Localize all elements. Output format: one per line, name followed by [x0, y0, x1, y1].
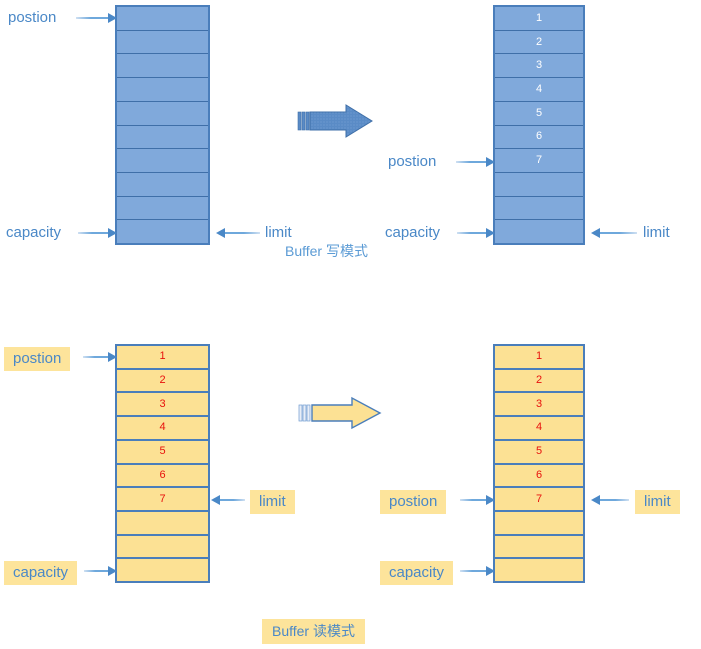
- buffer-cell: [117, 536, 208, 560]
- connector-capacity-w2: [457, 232, 487, 234]
- buffer-cell: 2: [495, 31, 583, 55]
- buffer-cell: 5: [495, 102, 583, 126]
- label-postion-w2: postion: [388, 154, 436, 169]
- buffer-cell: [117, 126, 208, 150]
- caption-write-mode: Buffer 写模式: [285, 244, 368, 258]
- connector-limit-w2: [599, 232, 637, 234]
- buffer-write-empty: [115, 5, 210, 245]
- connector-capacity-r1: [84, 570, 109, 572]
- buffer-cell: 3: [117, 393, 208, 417]
- label-capacity-r2: capacity: [380, 561, 453, 585]
- label-capacity-w1: capacity: [6, 225, 61, 240]
- buffer-cell: [495, 220, 583, 243]
- buffer-cell: [117, 220, 208, 243]
- buffer-cell: 7: [117, 488, 208, 512]
- label-capacity-w2: capacity: [385, 225, 440, 240]
- connector-capacity-w1: [78, 232, 109, 234]
- buffer-cell: [117, 102, 208, 126]
- label-postion-r1: postion: [4, 347, 70, 371]
- buffer-cell: [117, 197, 208, 221]
- buffer-cell: 6: [495, 465, 583, 489]
- label-limit-r1: limit: [250, 490, 295, 514]
- label-postion-r2: postion: [380, 490, 446, 514]
- buffer-cell: [117, 559, 208, 581]
- connector-postion-r1: [83, 356, 109, 358]
- buffer-cell: [495, 512, 583, 536]
- buffer-read-done: 1234567: [493, 344, 585, 583]
- buffer-cell: [117, 78, 208, 102]
- buffer-cell: 4: [495, 78, 583, 102]
- buffer-cell: [495, 173, 583, 197]
- connector-postion-r2: [460, 499, 487, 501]
- caption-read-mode: Buffer 读模式: [262, 619, 365, 644]
- buffer-cell: 5: [495, 441, 583, 465]
- buffer-cell: 5: [117, 441, 208, 465]
- buffer-cell: [495, 559, 583, 581]
- buffer-cell: [117, 149, 208, 173]
- buffer-cell: 1: [495, 7, 583, 31]
- buffer-read-start: 1234567: [115, 344, 210, 583]
- buffer-cell: 1: [117, 346, 208, 370]
- label-postion-w1: postion: [8, 10, 56, 25]
- buffer-cell: 4: [495, 417, 583, 441]
- buffer-cell: 3: [495, 393, 583, 417]
- connector-postion-w1: [76, 17, 109, 19]
- buffer-cell: [117, 31, 208, 55]
- buffer-write-filled: 1234567: [493, 5, 585, 245]
- connector-limit-w1: [224, 232, 260, 234]
- buffer-cell: [495, 197, 583, 221]
- buffer-cell: 6: [117, 465, 208, 489]
- buffer-cell: 7: [495, 488, 583, 512]
- buffer-cell: [495, 536, 583, 560]
- buffer-cell: 2: [117, 370, 208, 394]
- connector-postion-w2: [456, 161, 487, 163]
- buffer-cell: 2: [495, 370, 583, 394]
- connector-capacity-r2: [460, 570, 487, 572]
- buffer-cell: [117, 54, 208, 78]
- buffer-cell: 3: [495, 54, 583, 78]
- connector-limit-r2: [599, 499, 629, 501]
- buffer-cell: [117, 512, 208, 536]
- label-limit-w1: limit: [265, 225, 292, 240]
- buffer-cell: 7: [495, 149, 583, 173]
- label-capacity-r1: capacity: [4, 561, 77, 585]
- buffer-cell: 1: [495, 346, 583, 370]
- flow-arrow-read: [296, 395, 384, 431]
- flow-arrow-write: [296, 103, 374, 139]
- buffer-cell: [117, 173, 208, 197]
- buffer-cell: [117, 7, 208, 31]
- buffer-cell: 6: [495, 126, 583, 150]
- buffer-cell: 4: [117, 417, 208, 441]
- diagram-canvas: postion capacity limit Buffer 写模式 123456…: [0, 0, 701, 649]
- label-limit-w2: limit: [643, 225, 670, 240]
- label-limit-r2: limit: [635, 490, 680, 514]
- connector-limit-r1: [219, 499, 245, 501]
